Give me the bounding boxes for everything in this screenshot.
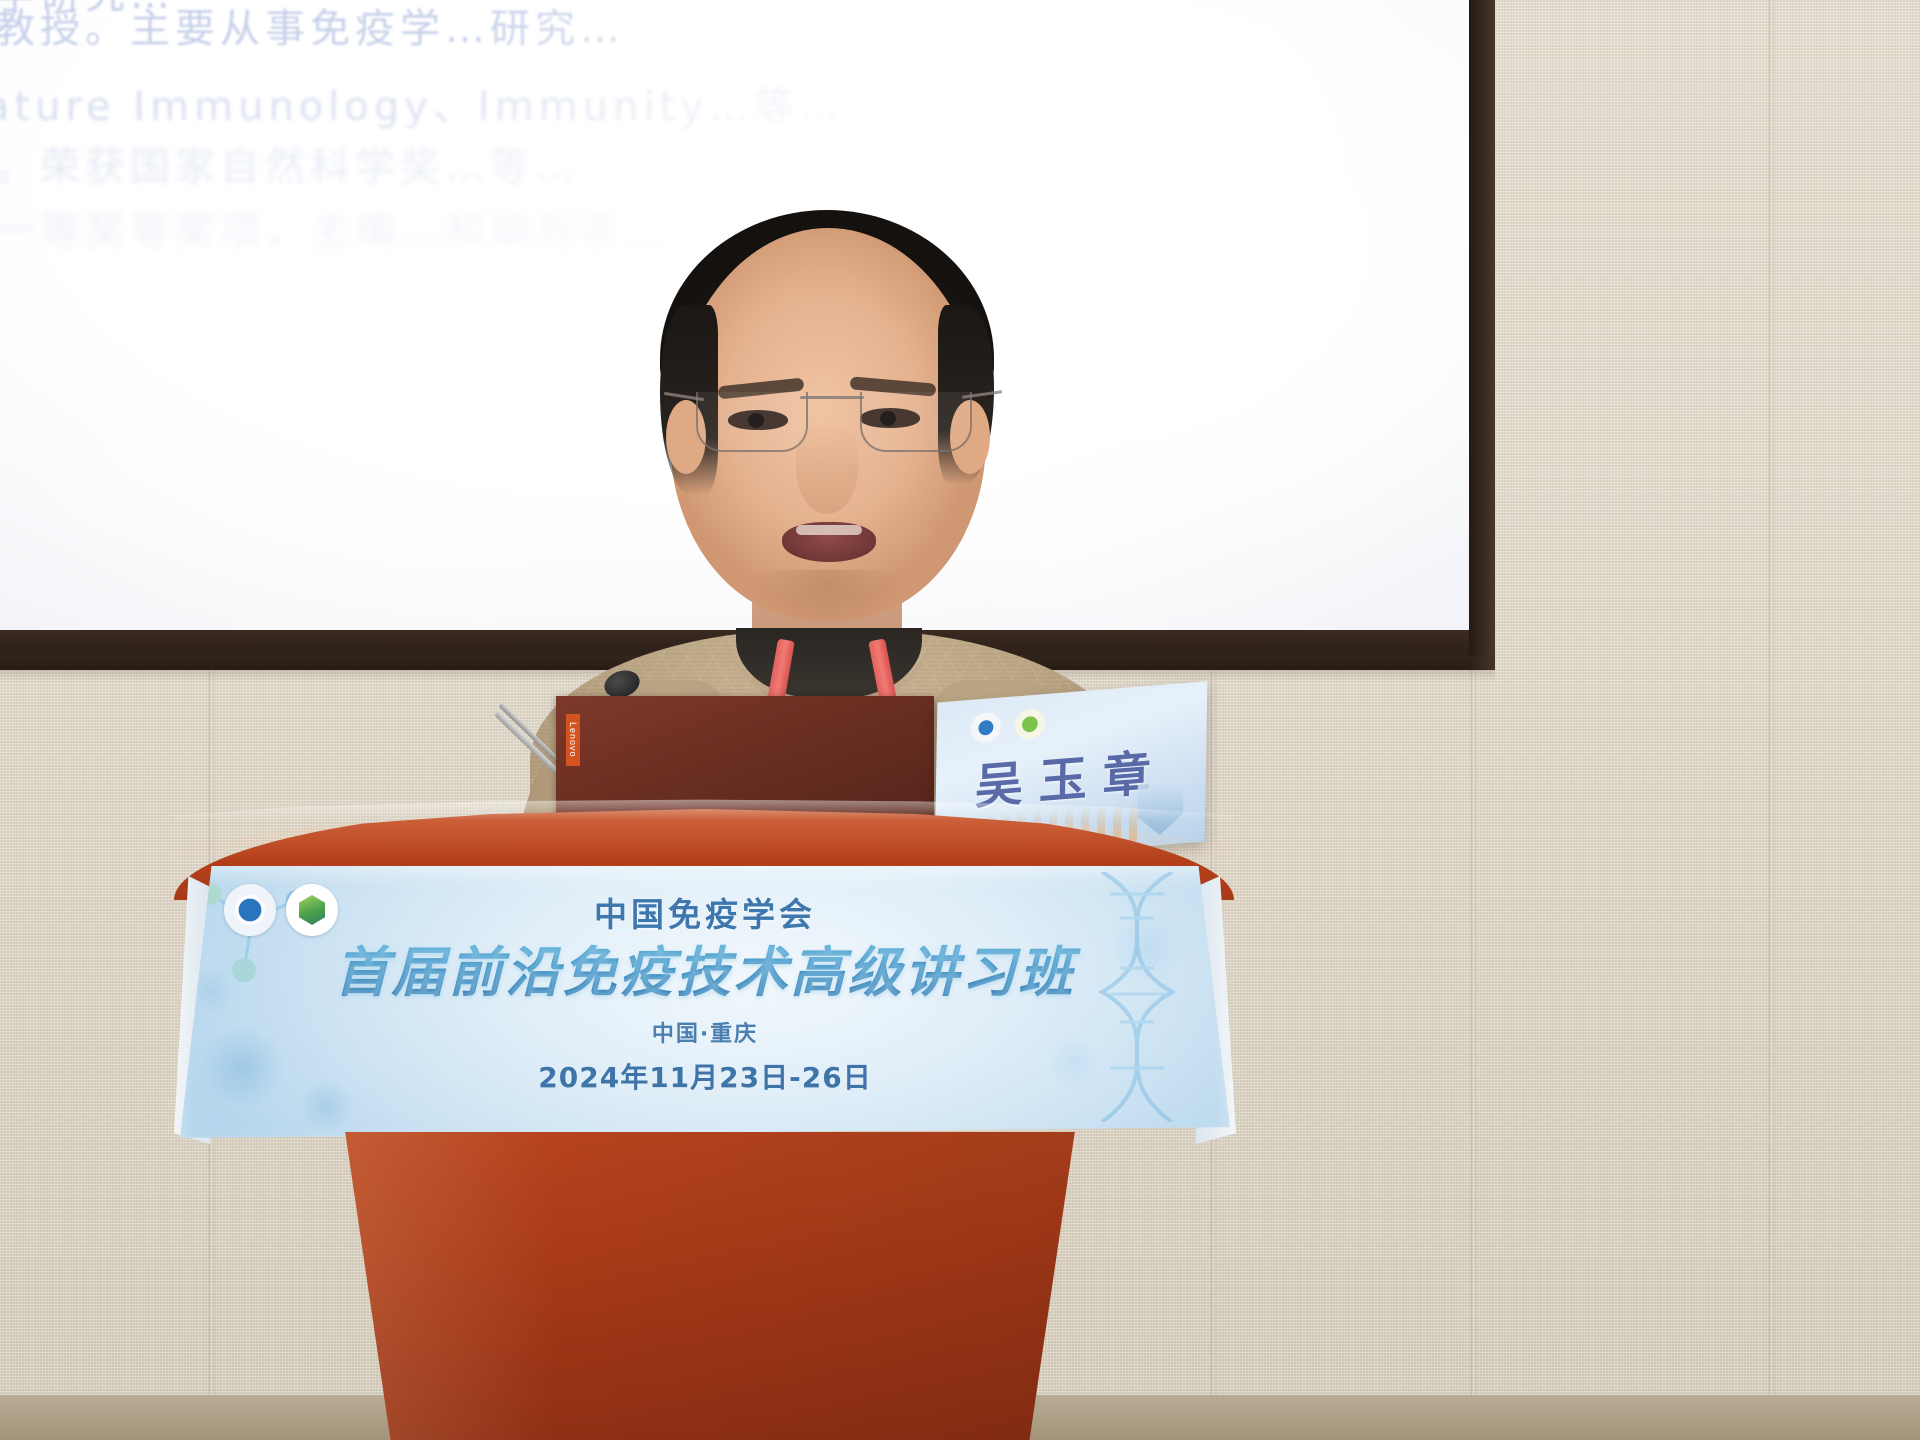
screen-right-bezel	[1469, 0, 1495, 670]
glasses-bridge	[800, 396, 864, 399]
glasses-lens-right	[860, 392, 972, 452]
glasses-lens-left	[696, 392, 808, 452]
blue-circle-emblem-icon	[971, 711, 1002, 743]
podium: 吴玉章	[180, 780, 1250, 1440]
green-crystal-emblem-icon	[1015, 708, 1046, 740]
speaker-chin-shadow	[756, 570, 900, 630]
speaker-nose	[796, 422, 858, 514]
banner-city: 中国·重庆	[180, 1016, 1230, 1048]
speaker-teeth	[796, 525, 862, 535]
wall-seam	[1768, 0, 1775, 1440]
banner-date: 2024年11月23日-26日	[180, 1056, 1230, 1096]
speaker-mouth	[782, 522, 876, 562]
banner-title: 首届前沿免疫技术高级讲习班	[180, 928, 1230, 1007]
conference-photo-scene: 疫学研究… 室教授。主要从事免疫学…研究… Nature Immunology、…	[0, 0, 1920, 1440]
podium-base-highlight	[330, 1132, 1090, 1440]
podium-banner: 中国免疫学会 首届前沿免疫技术高级讲习班 中国·重庆 2024年11月23日-2…	[180, 866, 1230, 1138]
lenovo-logo-icon: Lenovo	[566, 714, 580, 766]
